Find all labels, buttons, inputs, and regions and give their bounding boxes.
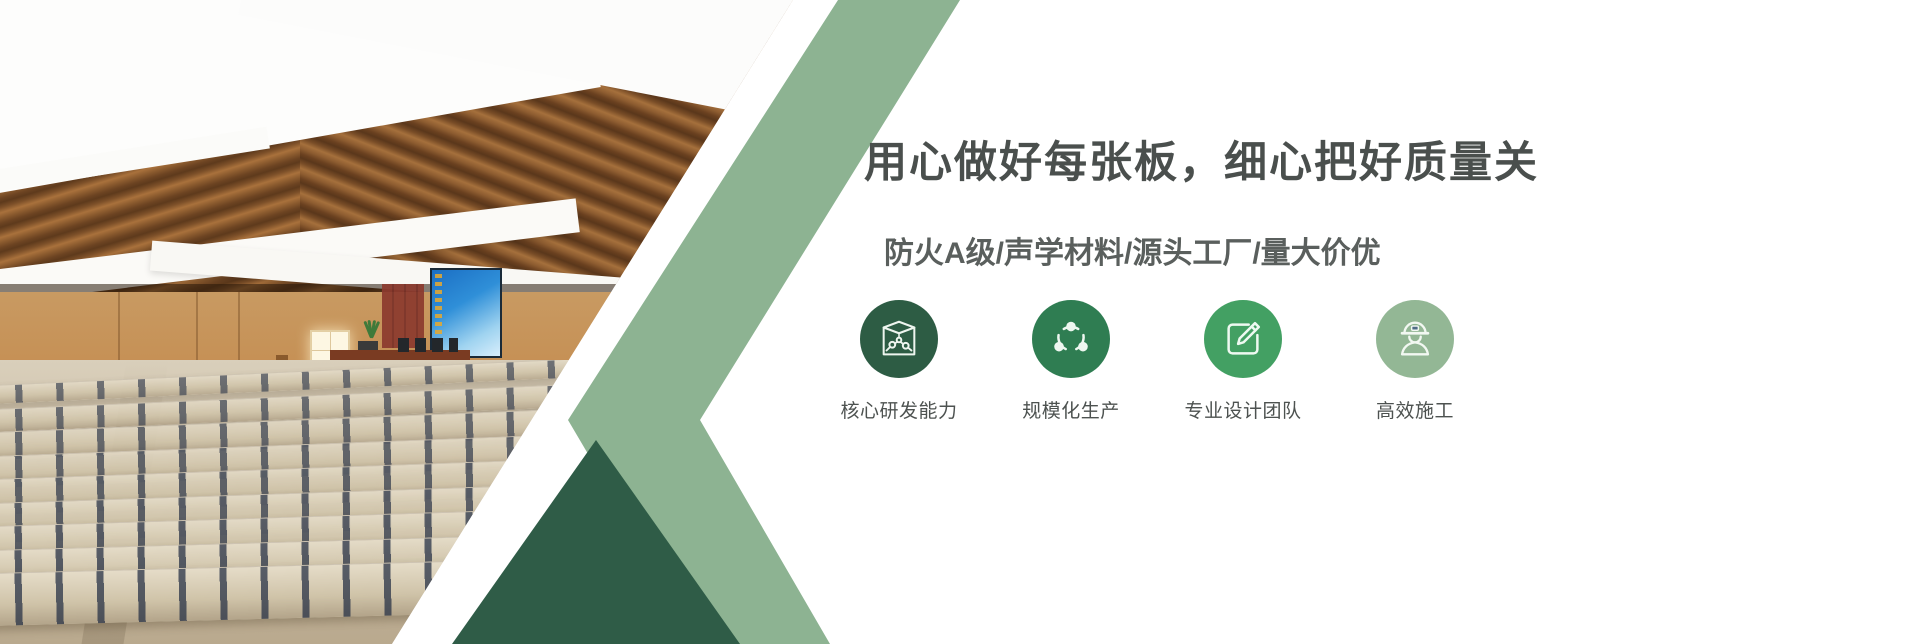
edit-pencil-square-icon: [1204, 300, 1282, 378]
feature-label: 核心研发能力: [840, 396, 957, 423]
banner-headline: 用心做好每张板，细心把好质量关: [864, 128, 1539, 190]
feature-label: 高效施工: [1376, 396, 1454, 423]
feature-list: 核心研发能力 规模化生产: [840, 300, 1474, 423]
feature-item-construction[interactable]: 高效施工: [1356, 300, 1474, 423]
hardhat-worker-icon: [1376, 300, 1454, 378]
banner-content: 用心做好每张板，细心把好质量关 防火A级/声学材料/源头工厂/量大价优: [840, 0, 1920, 644]
cube-chart-icon: [860, 300, 938, 378]
feature-label: 专业设计团队: [1184, 396, 1301, 423]
feature-item-production[interactable]: 规模化生产: [1012, 300, 1130, 423]
banner-subtitle: 防火A级/声学材料/源头工厂/量大价优: [884, 228, 1381, 272]
feature-item-design[interactable]: 专业设计团队: [1184, 300, 1302, 423]
hero-banner: 用心做好每张板，细心把好质量关 防火A级/声学材料/源头工厂/量大价优: [0, 0, 1920, 644]
feature-item-rd[interactable]: 核心研发能力: [840, 300, 958, 423]
feature-label: 规模化生产: [1022, 396, 1120, 423]
share-nodes-icon: [1032, 300, 1110, 378]
